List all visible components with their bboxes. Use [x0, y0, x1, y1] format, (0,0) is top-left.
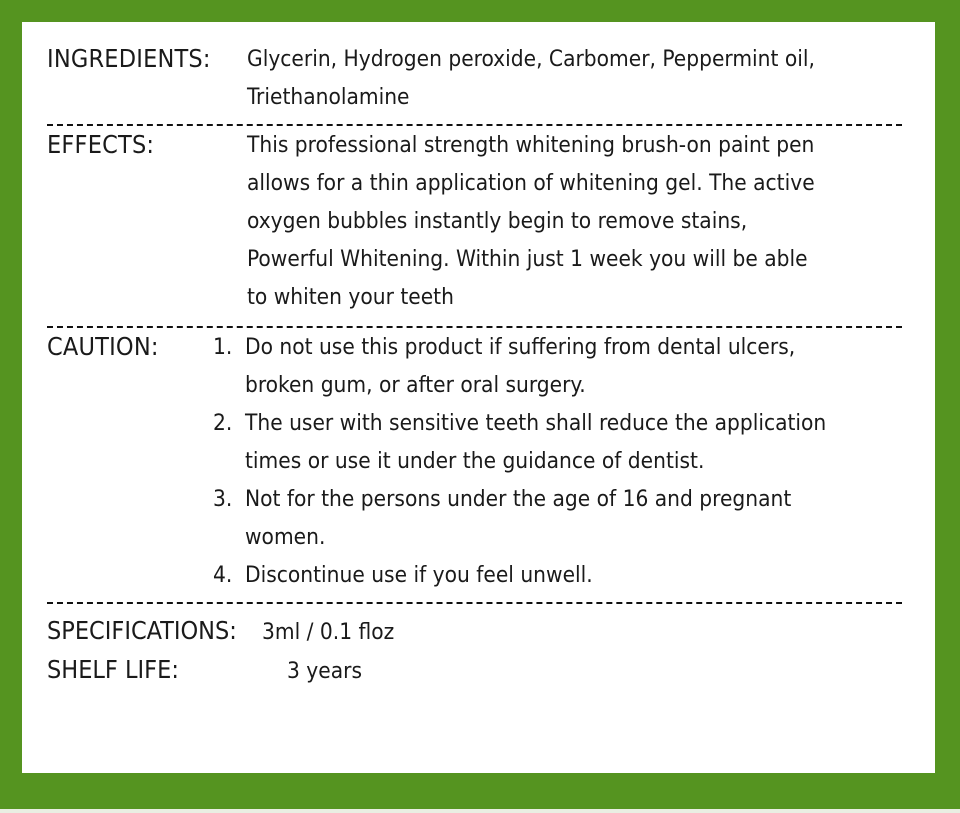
- section-ingredients: INGREDIENTS: Glycerin, Hydrogen peroxide…: [47, 40, 923, 116]
- section-effects: EFFECTS: This professional strength whit…: [47, 126, 923, 316]
- product-label-card: INGREDIENTS: Glycerin, Hydrogen peroxide…: [0, 0, 960, 813]
- effects-label: EFFECTS:: [47, 126, 247, 164]
- effects-body: This professional strength whitening bru…: [247, 126, 923, 316]
- caution-list-item: 3. Not for the persons under the age of …: [213, 480, 923, 556]
- caution-item-line-2: times or use it under the guidance of de…: [245, 448, 704, 474]
- ingredients-body: Glycerin, Hydrogen peroxide, Carbomer, P…: [247, 40, 923, 116]
- caution-list-item: 1. Do not use this product if suffering …: [213, 328, 923, 404]
- caution-list-item: 2. The user with sensitive teeth shall r…: [213, 404, 923, 480]
- label-white-panel: INGREDIENTS: Glycerin, Hydrogen peroxide…: [22, 22, 935, 773]
- effects-line-1: This professional strength whitening bru…: [247, 126, 923, 164]
- caution-item-line-2: broken gum, or after oral surgery.: [245, 372, 586, 398]
- specifications-label: SPECIFICATIONS:: [47, 612, 262, 649]
- caution-body: 1. Do not use this product if suffering …: [213, 328, 923, 594]
- caution-item-line-1: Not for the persons under the age of 16 …: [245, 486, 791, 512]
- effects-line-2: allows for a thin application of whiteni…: [247, 164, 923, 202]
- effects-row: EFFECTS: This professional strength whit…: [47, 126, 923, 316]
- shelf-life-row: SHELF LIFE: 3 years: [47, 651, 923, 690]
- caution-label: CAUTION:: [47, 328, 213, 366]
- label-content: INGREDIENTS: Glycerin, Hydrogen peroxide…: [47, 40, 923, 773]
- caution-item-line-1: Do not use this product if suffering fro…: [245, 334, 795, 360]
- caution-item-marker: 4.: [213, 556, 239, 594]
- caution-item-line-1: The user with sensitive teeth shall redu…: [245, 410, 826, 436]
- caution-list-item: 4. Discontinue use if you feel unwell.: [213, 556, 923, 594]
- caution-item-marker: 3.: [213, 480, 239, 518]
- caution-row: CAUTION: 1. Do not use this product if s…: [47, 328, 923, 594]
- ingredients-label: INGREDIENTS:: [47, 40, 247, 78]
- caution-list: 1. Do not use this product if suffering …: [213, 328, 923, 594]
- caution-item-marker: 1.: [213, 328, 239, 366]
- specifications-row: SPECIFICATIONS: 3ml / 0.1 floz: [47, 612, 923, 651]
- shelf-life-label: SHELF LIFE:: [47, 651, 262, 688]
- caution-item-line-1: Discontinue use if you feel unwell.: [245, 562, 593, 588]
- section-caution: CAUTION: 1. Do not use this product if s…: [47, 328, 923, 594]
- divider-after-caution: [47, 602, 902, 604]
- ingredients-line-2: Triethanolamine: [247, 78, 917, 116]
- caution-item-line-2: women.: [245, 524, 325, 550]
- ingredients-row: INGREDIENTS: Glycerin, Hydrogen peroxide…: [47, 40, 923, 116]
- effects-line-3: oxygen bubbles instantly begin to remove…: [247, 202, 923, 240]
- caution-item-marker: 2.: [213, 404, 239, 442]
- specifications-value: 3ml / 0.1 floz: [262, 614, 394, 651]
- shelf-life-value: 3 years: [262, 653, 362, 690]
- effects-line-4: Powerful Whitening. Within just 1 week y…: [247, 240, 923, 278]
- ingredients-line-1: Glycerin, Hydrogen peroxide, Carbomer, P…: [247, 40, 917, 78]
- section-specifications: SPECIFICATIONS: 3ml / 0.1 floz SHELF LIF…: [47, 612, 923, 690]
- effects-line-5: to whiten your teeth: [247, 278, 923, 316]
- frame-bottom-edge: [0, 809, 960, 813]
